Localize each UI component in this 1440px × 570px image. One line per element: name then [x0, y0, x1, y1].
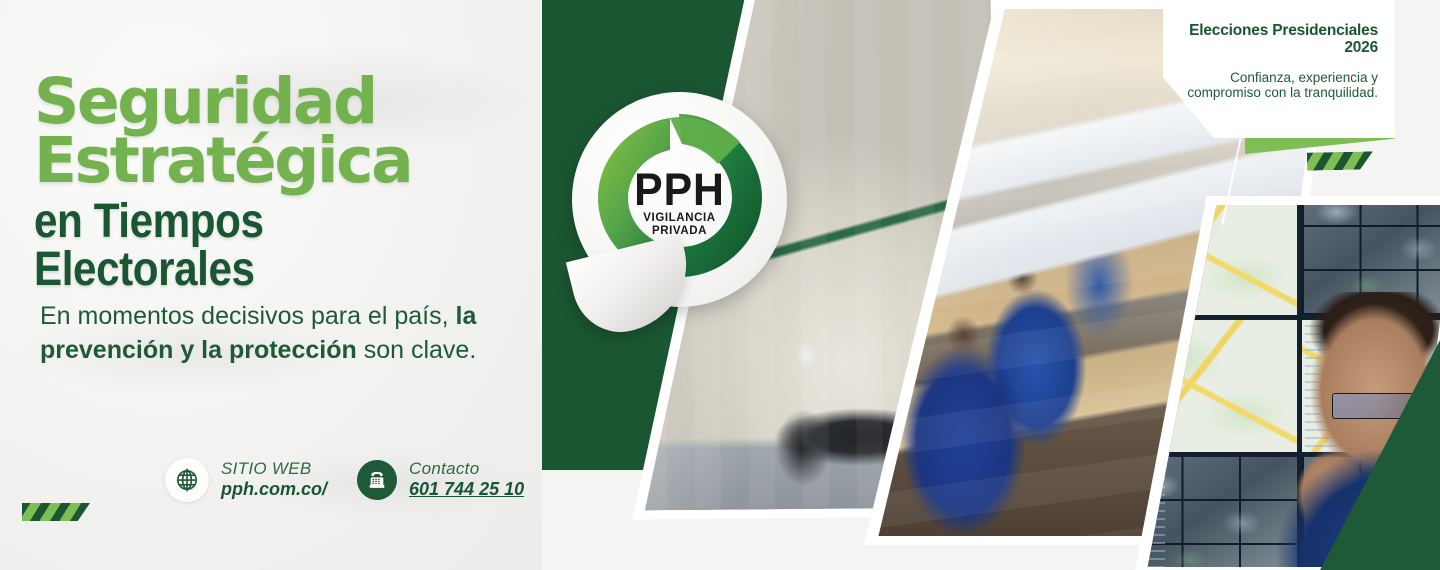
logo-name: PPH — [577, 170, 781, 211]
website-text: SITIO WEB pph.com.co/ — [221, 459, 327, 502]
left-content-panel: Seguridad Estratégica en Tiempos Elector… — [0, 0, 542, 570]
telephone-icon — [357, 460, 397, 500]
globe-icon — [165, 458, 209, 502]
election-callout-card: Elecciones Presidenciales 2026 Confianza… — [1163, 0, 1395, 138]
pph-logo: PPH VIGILANCIA PRIVADA — [572, 92, 787, 307]
callout-subtitle: Confianza, experiencia y compromiso con … — [1185, 70, 1378, 100]
subheadline-part-2: son clave. — [357, 336, 477, 364]
logo-tagline-2: PRIVADA — [572, 226, 787, 238]
website-label: SITIO WEB — [221, 459, 327, 480]
headline-line-1: Seguridad — [34, 72, 542, 131]
phone-label: Contacto — [409, 459, 524, 480]
callout-title: Elecciones Presidenciales 2026 — [1185, 22, 1378, 57]
logo-wordmark: PPH VIGILANCIA PRIVADA — [572, 170, 787, 238]
phone-value[interactable]: 601 744 25 10 — [409, 479, 524, 501]
headline-line-3: en Tiempos Electorales — [34, 198, 481, 294]
subheadline: En momentos decisivos para el país, la p… — [40, 300, 490, 368]
phone-contact[interactable]: Contacto 601 744 25 10 — [357, 459, 524, 502]
website-contact[interactable]: SITIO WEB pph.com.co/ — [165, 458, 327, 502]
phone-text: Contacto 601 744 25 10 — [409, 459, 524, 502]
striped-accent-left — [22, 503, 90, 521]
subheadline-part-1: En momentos decisivos para el país, — [40, 302, 449, 330]
website-value[interactable]: pph.com.co/ — [221, 479, 327, 501]
contact-row: SITIO WEB pph.com.co/ — [165, 458, 524, 502]
page-title: Seguridad Estratégica en Tiempos Elector… — [34, 72, 542, 294]
headline-line-2: Estratégica — [34, 131, 542, 190]
promotional-banner: Seguridad Estratégica en Tiempos Elector… — [0, 0, 1440, 570]
